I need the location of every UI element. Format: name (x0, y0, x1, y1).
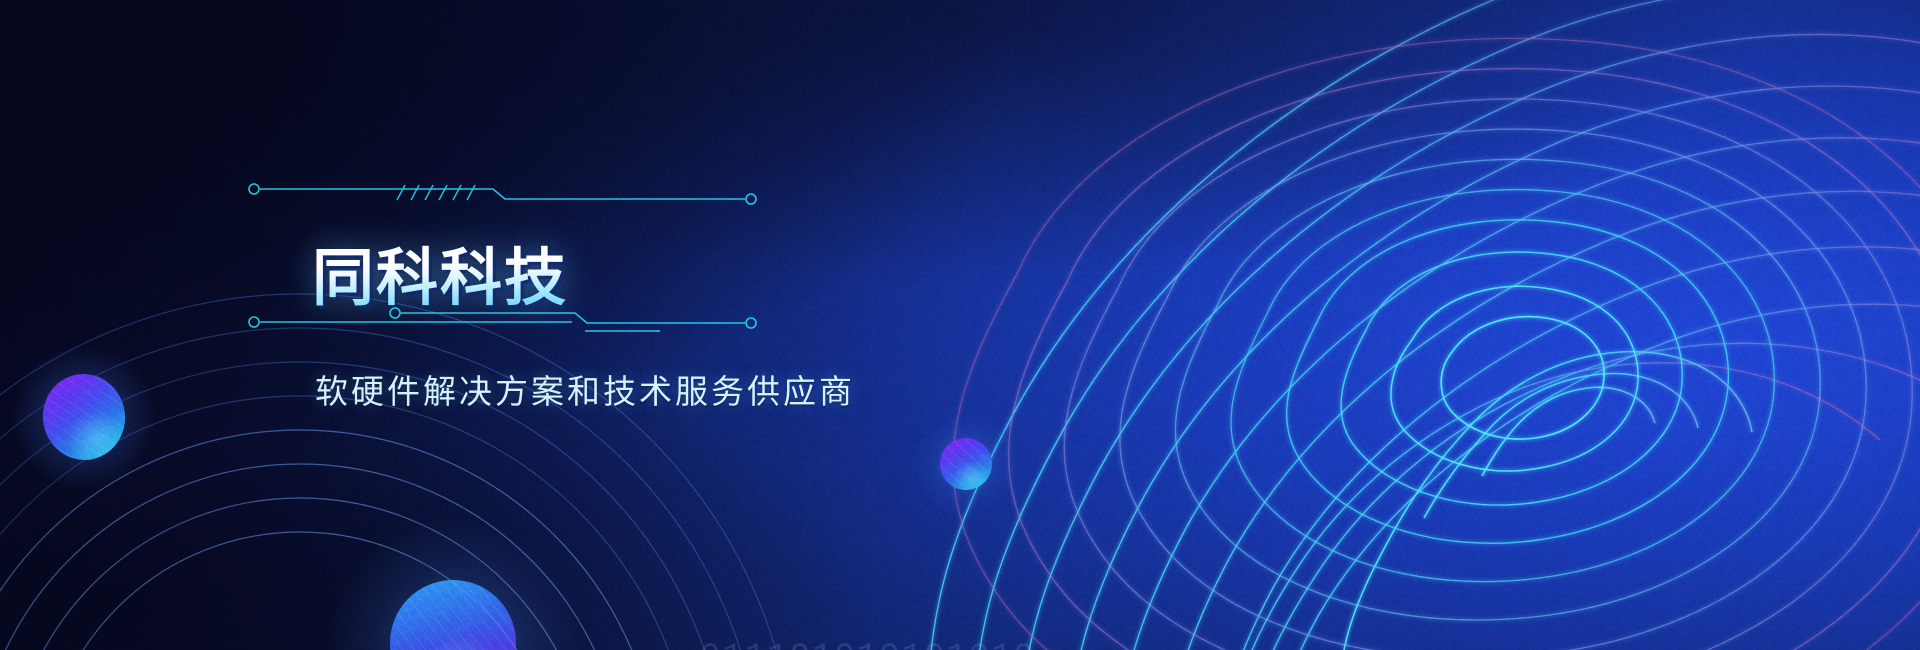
deco-node-bottom-mid (390, 308, 400, 318)
banner-content: 同科科技 软硬件解决方案和技术服务供应商 (0, 0, 1920, 650)
hero-banner: 011101010101010 01101010101010101 (0, 0, 1920, 650)
page-subtitle: 软硬件解决方案和技术服务供应商 (315, 370, 855, 414)
tech-bracket-bottom (0, 0, 1920, 650)
deco-node-bottom-right (746, 318, 756, 328)
deco-node-bottom-left (249, 317, 259, 327)
